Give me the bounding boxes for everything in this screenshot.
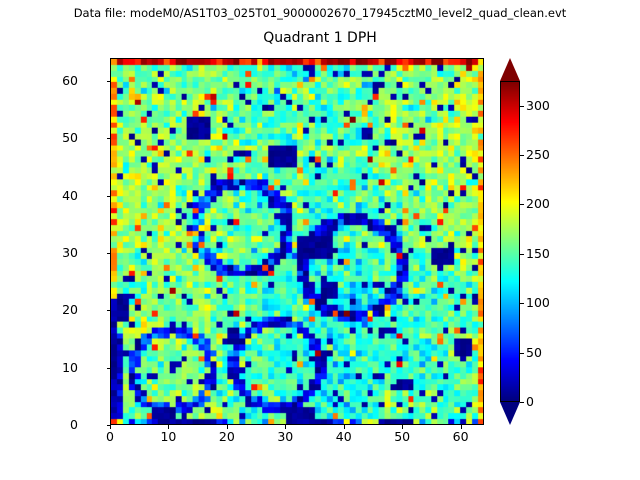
colorbar-over-arrow [500,58,520,81]
y-tick-mark [107,310,111,311]
y-tick-label: 40 [38,188,78,203]
heatmap-axes[interactable] [110,58,484,425]
figure-canvas: Data file: modeM0/AS1T03_025T01_90000026… [0,0,640,480]
dph-heatmap-image[interactable] [111,59,483,424]
x-tick-mark [110,425,111,429]
x-tick-mark [285,425,286,429]
y-tick-mark [107,138,111,139]
colorbar-tick-label: 250 [526,147,550,162]
y-tick-label: 60 [38,73,78,88]
x-tick-label: 10 [148,429,188,444]
x-tick-label: 40 [324,429,364,444]
y-tick-mark [107,81,111,82]
colorbar-tick-mark [520,204,524,205]
y-tick-label: 0 [38,417,78,432]
y-tick-mark [107,368,111,369]
colorbar-body[interactable] [500,81,520,402]
colorbar-tick-mark [520,155,524,156]
colorbar-tick-label: 50 [526,345,542,360]
y-tick-label: 20 [38,302,78,317]
plot-title: Quadrant 1 DPH [0,30,640,46]
x-tick-mark [344,425,345,429]
x-tick-label: 20 [207,429,247,444]
x-tick-mark [402,425,403,429]
y-tick-label: 50 [38,130,78,145]
colorbar-tick-mark [520,353,524,354]
x-tick-mark [227,425,228,429]
x-tick-mark [461,425,462,429]
colorbar-under-arrow [500,402,520,425]
y-tick-mark [107,196,111,197]
x-tick-label: 0 [90,429,130,444]
colorbar-tick-label: 200 [526,196,550,211]
data-file-label: Data file: modeM0/AS1T03_025T01_90000026… [0,6,640,20]
y-tick-label: 30 [38,245,78,260]
colorbar-tick-mark [520,106,524,107]
x-tick-label: 50 [382,429,422,444]
colorbar[interactable] [500,58,520,425]
colorbar-tick-mark [520,303,524,304]
x-tick-label: 60 [441,429,481,444]
colorbar-tick-label: 100 [526,295,550,310]
colorbar-tick-label: 150 [526,246,550,261]
y-tick-mark [107,253,111,254]
colorbar-tick-label: 0 [526,394,534,409]
colorbar-gradient [501,82,519,401]
colorbar-tick-mark [520,254,524,255]
x-tick-mark [168,425,169,429]
colorbar-tick-label: 300 [526,98,550,113]
y-tick-label: 10 [38,360,78,375]
x-tick-label: 30 [265,429,305,444]
colorbar-tick-mark [520,402,524,403]
